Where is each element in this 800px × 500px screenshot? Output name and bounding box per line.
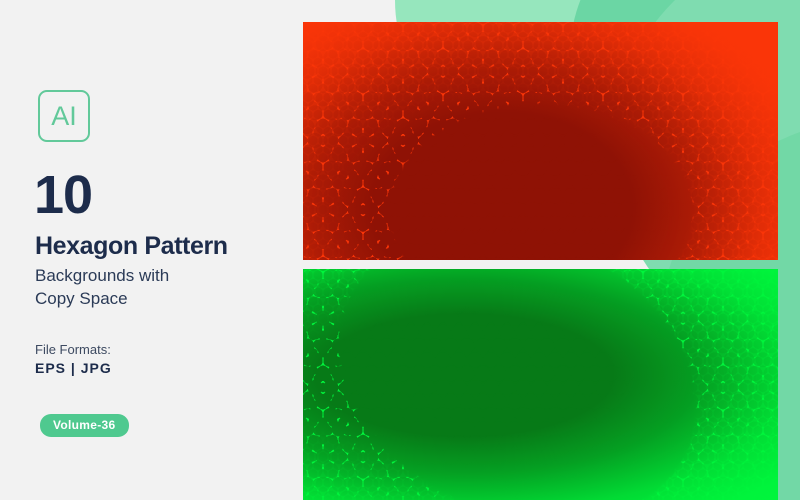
red-hexagon-preview [303,22,778,260]
page-title: Hexagon Pattern [35,233,228,261]
ai-logo-label: AI [51,103,77,130]
green-hexagon-preview [303,269,778,500]
file-formats-label: File Formats: [35,342,111,357]
item-count: 10 [34,168,92,222]
red-edge-fade [303,22,778,260]
file-formats-value: EPS | JPG [35,360,112,376]
green-edge-fade [303,269,778,500]
preview-canvas: AI 10 Hexagon Pattern Backgrounds with C… [0,0,800,500]
info-column: AI 10 Hexagon Pattern Backgrounds with C… [0,0,300,500]
volume-badge: Volume-36 [40,414,129,437]
page-subtitle: Backgrounds with Copy Space [35,265,169,311]
ai-logo: AI [38,90,90,142]
